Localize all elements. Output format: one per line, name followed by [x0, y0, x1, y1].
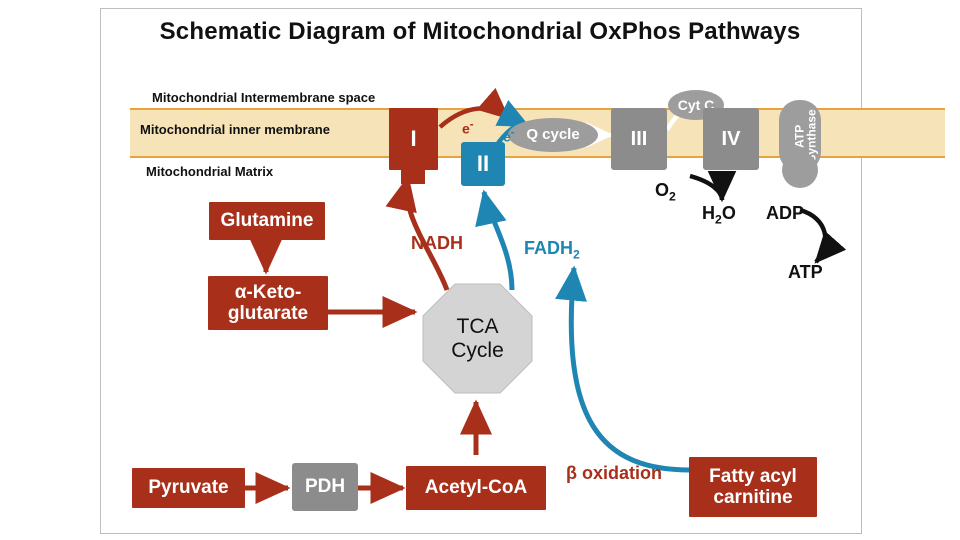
alpha-ketoglutarate-box[interactable]: α-Keto- glutarate: [208, 276, 328, 330]
q-cycle-label: Q cycle: [526, 127, 579, 143]
alpha-ketoglutarate-label-line1: α-Keto-: [235, 282, 302, 303]
atp-label: ATP: [788, 262, 823, 283]
pyruvate-label: Pyruvate: [148, 477, 228, 498]
fatty-acyl-carnitine-box[interactable]: Fatty acyl carnitine: [689, 457, 817, 517]
glutamine-box[interactable]: Glutamine: [209, 202, 325, 240]
pdh-box[interactable]: PDH: [292, 463, 358, 511]
beta-oxidation-label: β oxidation: [566, 463, 662, 484]
complex-iv-label: IV: [722, 128, 741, 151]
pyruvate-box[interactable]: Pyruvate: [132, 468, 245, 508]
acetyl-coa-box[interactable]: Acetyl-CoA: [406, 466, 546, 510]
electron-label-2: e-: [503, 126, 515, 145]
label-intermembrane-space: Mitochondrial Intermembrane space: [152, 90, 375, 105]
label-inner-membrane: Mitochondrial inner membrane: [140, 122, 330, 137]
electron-label-1: e-: [462, 118, 474, 137]
complex-iii-box[interactable]: III: [611, 108, 667, 170]
complex-i-label: I: [410, 127, 416, 152]
complex-i-box[interactable]: I: [389, 108, 438, 170]
tca-cycle-label[interactable]: TCA Cycle: [423, 284, 532, 393]
complex-ii-box[interactable]: II: [461, 142, 505, 186]
adp-label: ADP: [766, 203, 804, 224]
pdh-label: PDH: [305, 476, 345, 498]
fadh2-label: FADH2: [524, 238, 580, 262]
page-title: Schematic Diagram of Mitochondrial OxPho…: [100, 18, 860, 46]
complex-ii-label: II: [477, 151, 489, 177]
nadh-label: NADH: [411, 233, 463, 254]
label-matrix: Mitochondrial Matrix: [146, 164, 273, 179]
q-cycle-ellipse[interactable]: Q cycle: [508, 118, 598, 152]
fatty-acyl-label-line2: carnitine: [713, 487, 792, 508]
atp-synthase-label-line1: ATP: [794, 124, 807, 147]
complex-i-stalk: [401, 168, 425, 184]
glutamine-label: Glutamine: [221, 210, 314, 231]
complex-iv-box[interactable]: IV: [703, 108, 759, 170]
tca-label-line2: Cycle: [451, 339, 504, 363]
complex-iii-label: III: [631, 128, 648, 151]
atp-synthase-rotor: [782, 152, 818, 188]
h2o-label: H2O: [702, 203, 736, 227]
fatty-acyl-label-line1: Fatty acyl: [709, 466, 797, 487]
diagram-panel: [100, 8, 862, 534]
acetyl-coa-label: Acetyl-CoA: [425, 477, 527, 498]
tca-label-line1: TCA: [457, 315, 499, 339]
alpha-ketoglutarate-label-line2: glutarate: [228, 303, 308, 324]
diagram-canvas: Schematic Diagram of Mitochondrial OxPho…: [0, 0, 960, 540]
o2-label: O2: [655, 180, 676, 204]
